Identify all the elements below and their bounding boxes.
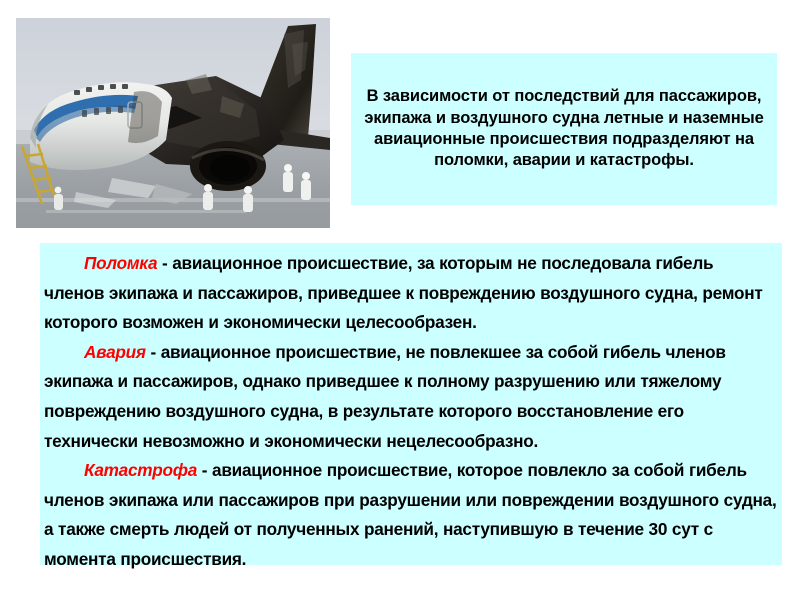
term-avariya: Авария	[84, 342, 146, 362]
callout-box: В зависимости от последствий для пассажи…	[351, 53, 777, 205]
aircraft-crash-photo	[16, 18, 330, 228]
definition-polomka: Поломка - авиационное происшествие, за к…	[44, 249, 778, 338]
aircraft-crash-illustration	[16, 18, 330, 228]
dash-katastrofa: -	[197, 460, 212, 480]
term-katastrofa: Катастрофа	[84, 460, 197, 480]
definitions-block: Поломка - авиационное происшествие, за к…	[40, 243, 782, 565]
callout-text: В зависимости от последствий для пассажи…	[363, 86, 765, 172]
dash-polomka: -	[157, 253, 172, 273]
definition-katastrofa: Катастрофа - авиационное происшествие, к…	[44, 456, 778, 574]
definition-avariya: Авария - авиационное происшествие, не по…	[44, 338, 778, 456]
dash-avariya: -	[146, 342, 161, 362]
term-polomka: Поломка	[84, 253, 157, 273]
